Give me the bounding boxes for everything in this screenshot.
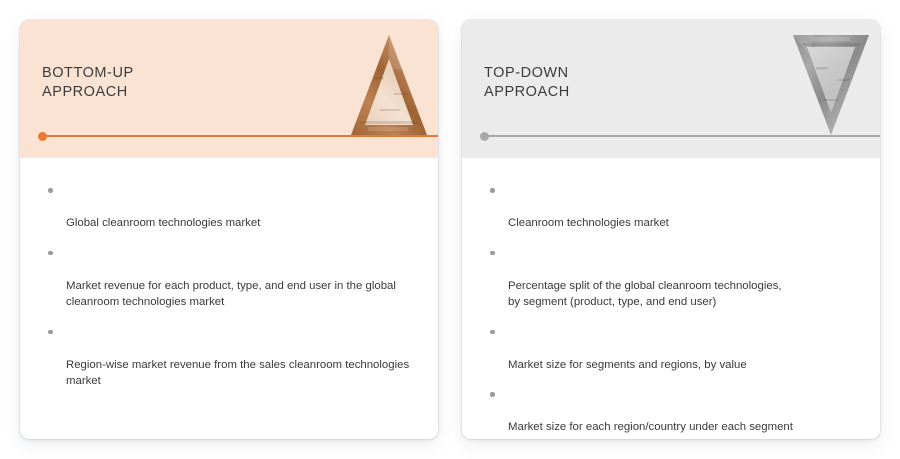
card-body-top-down: Cleanroom technologies market Percentage… [462,158,880,439]
card-header-top-down: TOP-DOWN APPROACH [462,20,880,158]
list-item: Global cleanroom technologies market [44,182,414,232]
list-item: Percentage split of the global cleanroom… [486,245,856,311]
top-down-baseline-rule [484,135,880,137]
bullet-dot-icon [490,330,495,335]
card-title-top-down: TOP-DOWN APPROACH [484,64,570,102]
card-body-bottom-up: Global cleanroom technologies market Mar… [20,158,438,439]
bullet-dot-icon [490,251,495,256]
card-title-bottom-up: BOTTOM-UP APPROACH [42,64,134,102]
bullet-dot-icon [48,330,53,335]
list-item-label: Global cleanroom technologies market [66,217,260,229]
downward-triangle-icon [792,33,870,137]
bullet-dot-icon [490,188,495,193]
card-header-bottom-up: BOTTOM-UP APPROACH [20,20,438,158]
list-item: Cleanroom technologies market [486,182,856,232]
bullet-dot-icon [490,392,495,397]
list-item-label: Percentage split of the global cleanroom… [508,280,782,309]
card-bottom-up-approach[interactable]: BOTTOM-UP APPROACH [20,20,438,439]
card-top-down-approach[interactable]: TOP-DOWN APPROACH [462,20,880,439]
upward-triangle-icon [350,33,428,137]
list-item-label: Region-wise market revenue from the sale… [66,359,409,388]
list-item-label: Market revenue for each product, type, a… [66,280,396,309]
list-item: Market size for each region/country unde… [486,386,856,436]
list-item: Region-wise market revenue from the sale… [44,324,414,390]
bottom-up-origin-knob [38,132,47,141]
bullet-dot-icon [48,251,53,256]
list-item-label: Cleanroom technologies market [508,217,669,229]
bullet-list-top-down: Cleanroom technologies market Percentage… [486,182,856,436]
list-item-label: Market size for segments and regions, by… [508,359,747,371]
bottom-up-baseline-rule [42,135,438,137]
bullet-dot-icon [48,188,53,193]
approach-comparison-board: BOTTOM-UP APPROACH [0,0,900,459]
list-item: Market size for segments and regions, by… [486,324,856,374]
list-item: Market revenue for each product, type, a… [44,245,414,311]
list-item-label: Market size for each region/country unde… [508,421,793,433]
bullet-list-bottom-up: Global cleanroom technologies market Mar… [44,182,414,390]
top-down-origin-knob [480,132,489,141]
